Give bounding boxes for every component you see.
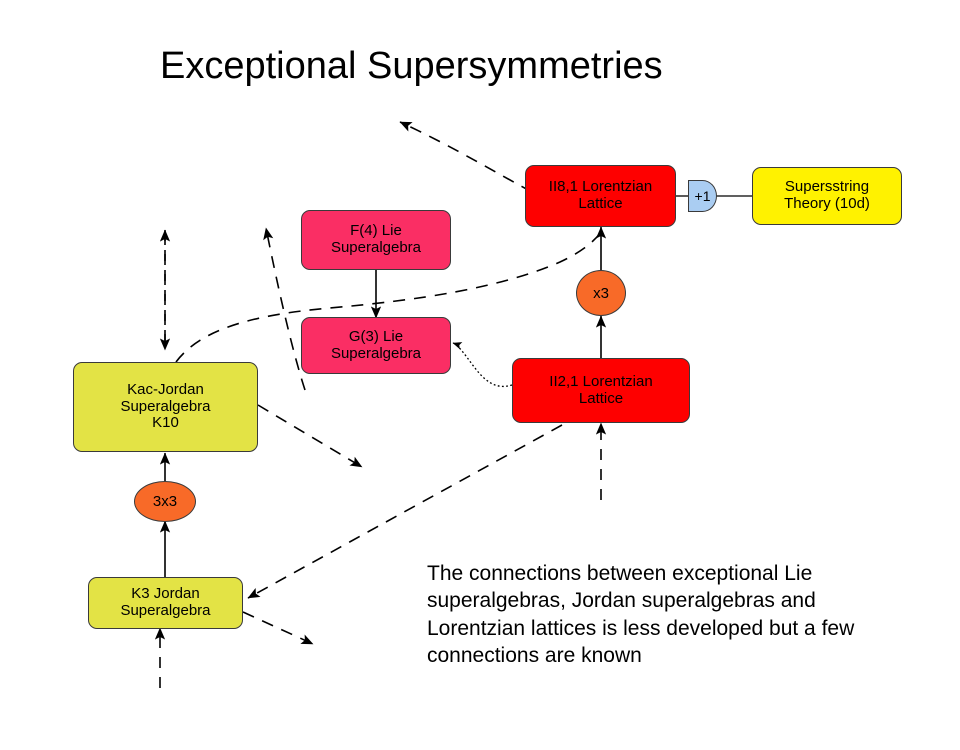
node-label: II2,1 Lorentzian Lattice — [545, 374, 656, 408]
node-label: K3 Jordan Superalgebra — [116, 586, 214, 620]
node-label: x3 — [593, 285, 609, 302]
node-label: II8,1 Lorentzian Lattice — [545, 179, 656, 213]
edge-ii81-to-upleft-dashed — [400, 122, 532, 192]
node-label: G(3) Lie Superalgebra — [327, 329, 425, 363]
node-ii21-lorentzian-lattice[interactable]: II2,1 Lorentzian Lattice — [512, 358, 690, 423]
node-x3-multiplier[interactable]: x3 — [576, 270, 626, 316]
node-3x3-multiplier[interactable]: 3x3 — [134, 481, 196, 522]
node-kac-jordan-superalgebra-k10[interactable]: Kac-Jordan Superalgebra K10 — [73, 362, 258, 452]
node-g3-lie-superalgebra[interactable]: G(3) Lie Superalgebra — [301, 317, 451, 374]
page-title: Exceptional Supersymmetries — [160, 45, 800, 88]
edge-kac-to-downright-dashed — [258, 405, 362, 467]
node-ii81-lorentzian-lattice[interactable]: II8,1 Lorentzian Lattice — [525, 165, 676, 227]
edge-k3-to-downright-dashed — [243, 612, 313, 644]
node-label: F(4) Lie Superalgebra — [327, 223, 425, 257]
node-label: 3x3 — [153, 493, 177, 510]
node-label: Kac-Jordan Superalgebra K10 — [116, 382, 214, 432]
node-supersstring-theory[interactable]: Supersstring Theory (10d) — [752, 167, 902, 225]
node-label: +1 — [695, 188, 711, 204]
edge-up-right-dashed — [266, 228, 305, 390]
edge-ii21-to-g3-dotted — [453, 343, 512, 386]
node-k3-jordan-superalgebra[interactable]: K3 Jordan Superalgebra — [88, 577, 243, 629]
node-label: Supersstring Theory (10d) — [780, 179, 874, 213]
caption-text: The connections between exceptional Lie … — [427, 560, 917, 669]
node-plus1-operator[interactable]: +1 — [688, 180, 717, 212]
slide-canvas: Exceptional Supersymmetries — [0, 0, 960, 750]
node-f4-lie-superalgebra[interactable]: F(4) Lie Superalgebra — [301, 210, 451, 270]
